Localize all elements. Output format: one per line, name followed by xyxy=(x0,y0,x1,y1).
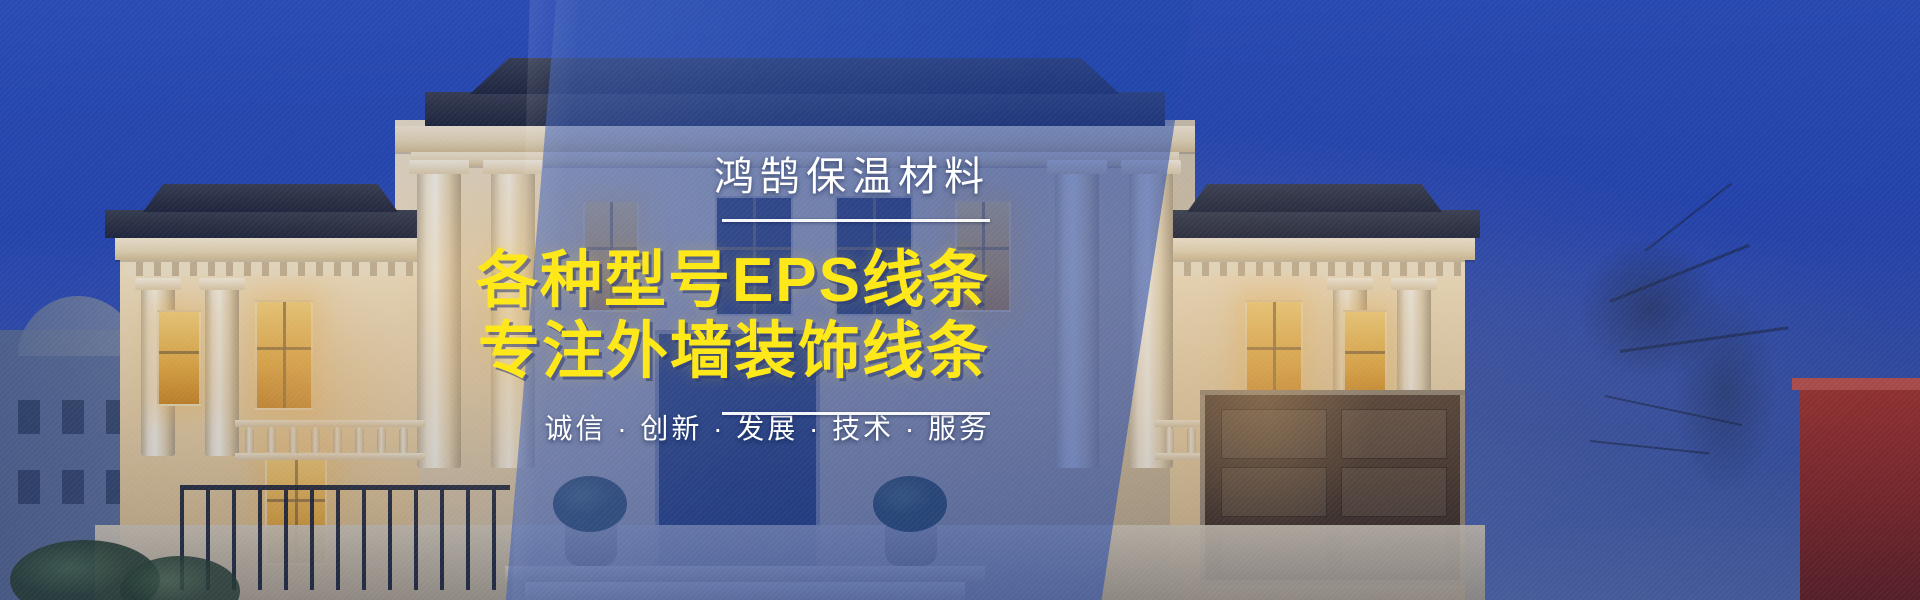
tagline: 诚信 · 创新 · 发展 · 技术 · 服务 xyxy=(544,415,990,443)
headline-line-2: 专注外墙装饰线条 xyxy=(478,319,990,386)
banner-copy: 鸿鹄保温材料 各种型号EPS线条 专注外墙装饰线条 诚信 · 创新 · 发展 ·… xyxy=(0,0,990,600)
divider-bottom xyxy=(722,412,990,415)
headline-line-1: 各种型号EPS线条 xyxy=(476,248,990,315)
hero-banner: 鸿鹄保温材料 各种型号EPS线条 专注外墙装饰线条 诚信 · 创新 · 发展 ·… xyxy=(0,0,1920,600)
divider-top xyxy=(722,219,990,222)
brand-name: 鸿鹄保温材料 xyxy=(714,157,990,197)
